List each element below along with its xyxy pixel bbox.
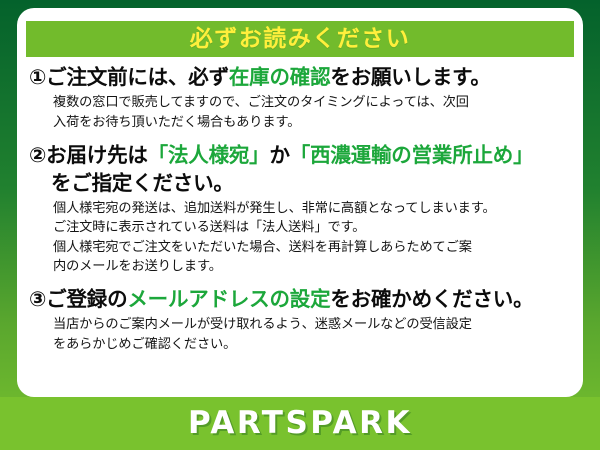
title-banner: 必ずお読みください <box>26 21 574 57</box>
notice-heading-1-before: ご注文前には、必ず <box>46 65 229 89</box>
notice-heading-2-highlight: 「法人様宛」 <box>148 143 270 167</box>
brand-logo-text: PARTSPARK <box>188 408 412 439</box>
notice-heading-2-after: をご指定ください。 <box>29 170 573 197</box>
notice-heading-3-after: をお確かめください。 <box>330 287 533 311</box>
notice-heading-2-highlight-2: 「西濃運輸の営業所止め」 <box>290 143 534 167</box>
banner-title: 必ずお読みください <box>190 28 411 51</box>
notice-sub-2-line-3: 個人様宅宛でご注文をいただいた場合、送料を再計算しあらためてご案 <box>53 238 573 258</box>
notice-heading-2-middle: か <box>269 143 289 167</box>
notice-sub-1: 複数の窓口で販売してますので、ご注文のタイミングによっては、次回 入荷をお待ち頂… <box>29 93 573 132</box>
notice-heading-1-after: をお願いします。 <box>330 65 490 89</box>
notice-heading-1: ①ご注文前には、必ず在庫の確認をお願いします。 <box>29 64 573 91</box>
notice-banner: 必ずお読みください ①ご注文前には、必ず在庫の確認をお願いします。 複数の窓口で… <box>0 0 600 450</box>
notice-sub-1-line-1: 複数の窓口で販売してますので、ご注文のタイミングによっては、次回 <box>53 93 573 113</box>
notice-heading-2-before: お届け先は <box>46 143 148 167</box>
notice-list: ①ご注文前には、必ず在庫の確認をお願いします。 複数の窓口で販売してますので、ご… <box>17 64 583 354</box>
notice-heading-1-highlight: 在庫の確認 <box>229 65 331 89</box>
notice-sub-2: 個人様宅宛の発送は、追加送料が発生し、非常に高額となってしまいます。 ご注文時に… <box>29 199 573 277</box>
notice-marker-2: ② <box>29 143 46 167</box>
notice-sub-2-line-4: 内のメールをお送りします。 <box>53 257 573 277</box>
notice-heading-3-before: ご登録の <box>46 287 127 311</box>
notice-item-3: ③ご登録のメールアドレスの設定をお確かめください。 当店からのご案内メールが受け… <box>29 286 573 354</box>
footer-brand-bar: PARTSPARK <box>0 397 600 450</box>
notice-sub-3-line-2: をあらかじめご確認ください。 <box>53 335 573 355</box>
notice-heading-3-highlight: メールアドレスの設定 <box>127 287 330 311</box>
notice-heading-3: ③ご登録のメールアドレスの設定をお確かめください。 <box>29 286 573 313</box>
notice-marker-1: ① <box>29 65 46 89</box>
notice-item-2: ②お届け先は「法人様宛」か「西濃運輸の営業所止め」をご指定ください。 個人様宅宛… <box>29 142 573 277</box>
notice-sub-2-line-1: 個人様宅宛の発送は、追加送料が発生し、非常に高額となってしまいます。 <box>53 199 573 219</box>
notice-sub-3: 当店からのご案内メールが受け取れるよう、迷惑メールなどの受信設定 をあらかじめご… <box>29 315 573 354</box>
notice-heading-2: ②お届け先は「法人様宛」か「西濃運輸の営業所止め」をご指定ください。 <box>29 142 573 197</box>
notice-card: 必ずお読みください ①ご注文前には、必ず在庫の確認をお願いします。 複数の窓口で… <box>17 8 583 397</box>
notice-sub-2-line-2: ご注文時に表示されている送料は「法人送料」です。 <box>53 218 573 238</box>
notice-marker-3: ③ <box>29 287 46 311</box>
notice-item-1: ①ご注文前には、必ず在庫の確認をお願いします。 複数の窓口で販売してますので、ご… <box>29 64 573 132</box>
notice-sub-1-line-2: 入荷をお待ち頂いただく場合もあります。 <box>53 113 573 133</box>
notice-sub-3-line-1: 当店からのご案内メールが受け取れるよう、迷惑メールなどの受信設定 <box>53 315 573 335</box>
